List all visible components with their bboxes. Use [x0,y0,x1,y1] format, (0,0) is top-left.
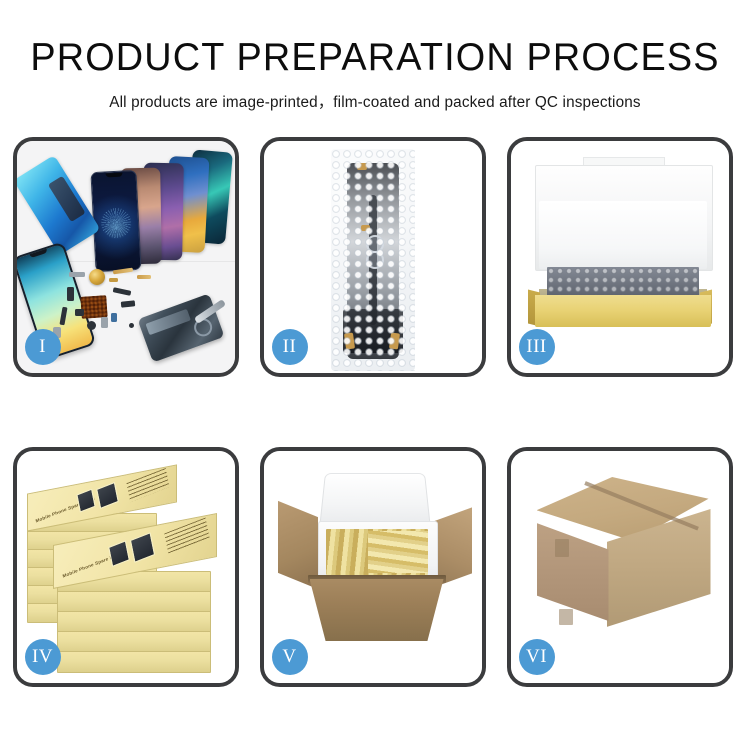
white-foam-sheet [539,201,707,269]
box-front-panel [535,295,711,327]
product-preparation-process-infographic: PRODUCT PREPARATION PROCESS All products… [0,0,750,750]
step-panel-sealed-carton[interactable]: VI [507,447,733,687]
stacked-box [57,611,211,633]
flex-ribbon-part [137,275,151,279]
grey-bubble-padding [547,267,699,297]
step-cell-1: I [5,137,252,387]
step-badge-1: I [25,329,61,365]
bubble-texture [331,149,415,371]
box-spec-lines [126,468,169,502]
header: PRODUCT PREPARATION PROCESS All products… [0,0,750,112]
stacked-box [57,651,211,673]
step-panel-carton-loading[interactable]: V [260,447,486,687]
step-cell-4: Mobile Phone Spare Parts [5,447,252,697]
spare-part-screw [129,323,134,328]
bubble-wrap-bag [331,149,415,371]
step-badge-5: V [272,639,308,675]
carton-tape-lower [559,609,573,625]
process-steps-grid: I [0,137,750,717]
gold-coil-part [89,269,105,285]
step-panel-components[interactable]: I [13,137,239,377]
step-cell-6: VI [499,447,746,697]
phone-screen-front-glass [90,170,141,272]
box-window-phone [129,532,154,563]
page-subtitle: All products are image-printed，film-coat… [0,79,750,112]
spare-part-chip [111,313,117,322]
stacked-box [57,631,211,653]
step-badge-6: VI [519,639,555,675]
step-panel-inner-box[interactable]: III [507,137,733,377]
page-title: PRODUCT PREPARATION PROCESS [11,0,739,79]
spare-part-chip [69,272,85,277]
box-window-phone [76,489,95,513]
spare-part-chip [109,278,118,282]
spare-part-chip [75,309,84,316]
step-badge-4: IV [25,639,61,675]
loaded-yellow-boxes [368,531,428,573]
spare-part-chip [67,287,74,301]
box-window-phone [96,482,119,509]
step-panel-stacked-boxes[interactable]: Mobile Phone Spare Parts [13,447,239,687]
step-badge-2: II [272,329,308,365]
spare-part-button [87,321,96,330]
carton-body [310,579,444,641]
box-spec-lines [164,517,209,554]
spare-part-chip [101,317,108,328]
carton-tape-upper [555,539,569,557]
step-cell-5: V [252,447,499,697]
copper-mesh-part [80,295,107,319]
step-panel-bubble-wrap[interactable]: II [260,137,486,377]
stacked-box [57,591,211,613]
step-badge-3: III [519,329,555,365]
step-cell-3: III [499,137,746,387]
box-window-phone [108,540,130,567]
step-cell-2: II [252,137,499,387]
